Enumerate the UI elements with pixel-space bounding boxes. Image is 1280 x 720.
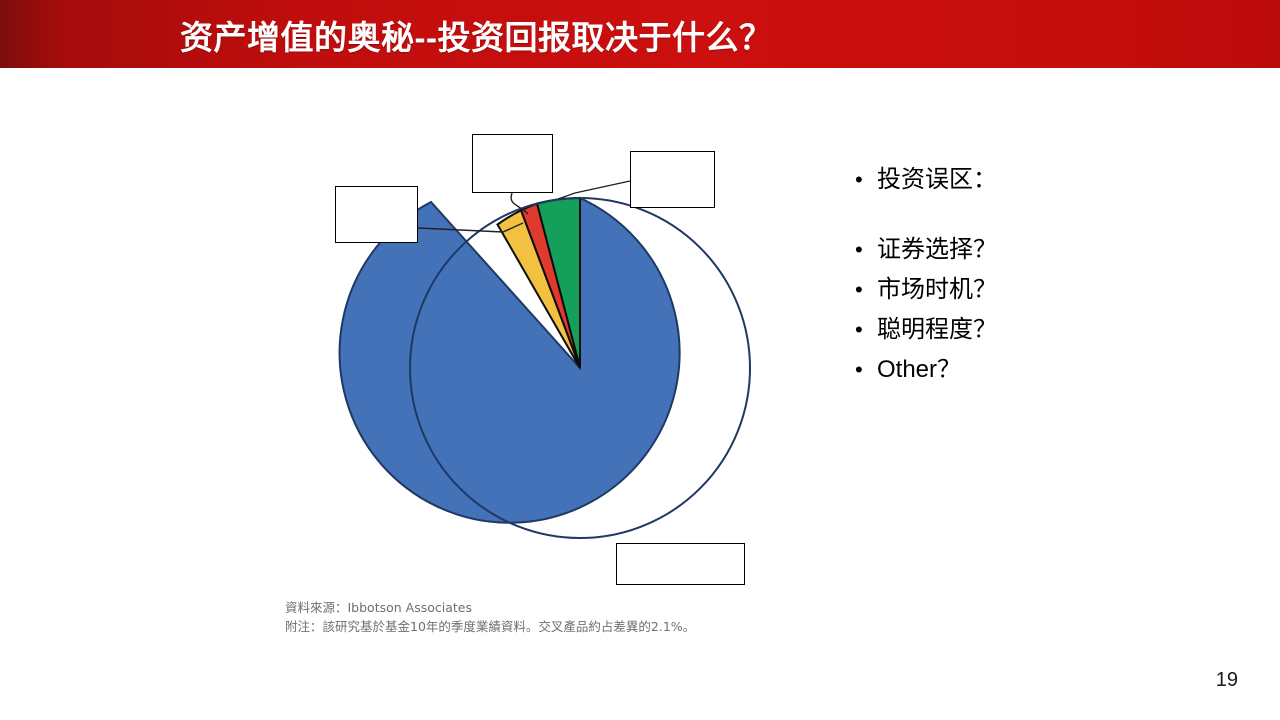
source-line-2: 附注：該研究基於基金10年的季度業績資料。交叉產品約占差異的2.1%。 [285,617,695,636]
bullet-dot-icon: • [855,239,877,261]
list-item: • 市场时机？ [855,275,1235,307]
bullet-list: • 投资误区： • 证券选择？ • 市场时机？ • 聪明程度？ • Other？ [855,165,1235,395]
list-item: • Other？ [855,355,1235,387]
bullet-label: 聪明程度？ [877,315,997,346]
leader-line-right [558,181,630,199]
callout-right-text [631,152,714,207]
page-number: 19 [1216,669,1238,692]
bullet-spacer [855,205,1235,235]
callout-left-text [336,187,417,242]
bullet-dot-icon: • [855,359,877,381]
title-bar-underline [0,68,1280,73]
source-line-1: 資料來源：Ibbotson Associates [285,598,695,617]
bullet-dot-icon: • [855,279,877,301]
page-title: 资产增值的奥秘--投资回报取决于什么？ [180,11,772,59]
callout-box-bottom[interactable] [616,543,745,585]
list-item: • 投资误区： [855,165,1235,197]
bullet-dot-icon: • [855,319,877,341]
callout-box-left[interactable] [335,186,418,243]
bullet-label: 证券选择？ [877,235,997,266]
list-item: • 聪明程度？ [855,315,1235,347]
source-note: 資料來源：Ibbotson Associates 附注：該研究基於基金10年的季… [285,598,695,637]
bullet-label: 投资误区： [877,165,997,196]
callout-box-right[interactable] [630,151,715,208]
bullet-dot-icon: • [855,169,877,191]
callout-middle-text [473,135,552,192]
callout-box-middle[interactable] [472,134,553,193]
list-item: • 证券选择？ [855,235,1235,267]
bullet-label: 市场时机？ [877,275,997,306]
bullet-label: Other？ [877,355,961,386]
callout-bottom-text [617,544,744,584]
